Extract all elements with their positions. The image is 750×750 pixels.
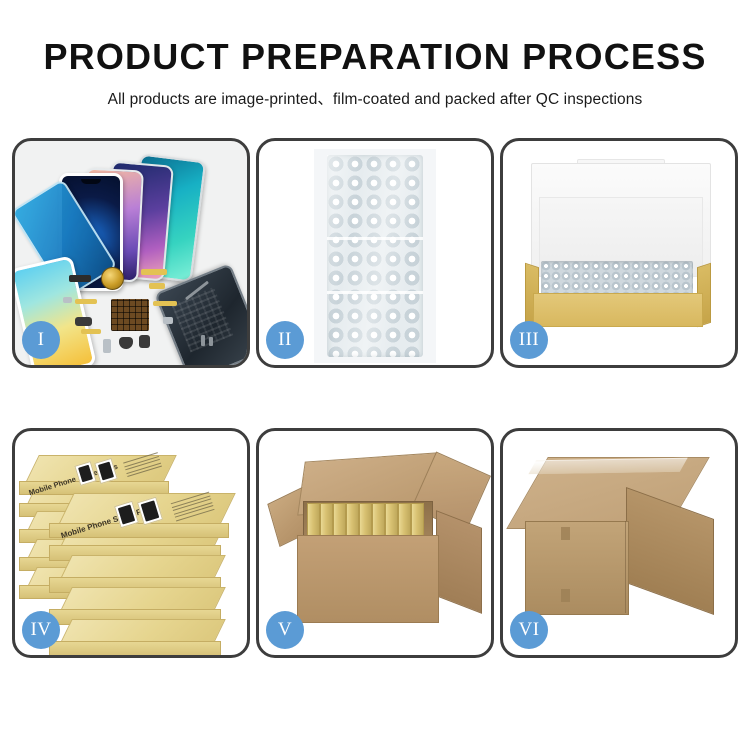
connector-part-3 <box>163 317 173 324</box>
step-panel-1: I <box>12 138 250 368</box>
bubble-wrapped-contents <box>541 261 693 297</box>
step-panel-2: II <box>256 138 494 368</box>
flex-cable-4 <box>75 299 97 304</box>
flex-cable-3 <box>153 301 177 306</box>
phone-notch <box>81 179 101 184</box>
packing-tape <box>528 458 687 475</box>
step-panel-5: V <box>256 428 494 658</box>
box-front-panel <box>533 293 703 327</box>
bubble-wrap-gloss <box>327 155 423 357</box>
process-grid: I II III <box>12 138 738 658</box>
stacked-box-front-3 <box>47 587 227 617</box>
sealed-carton-side <box>626 487 714 615</box>
step-badge-2: II <box>266 321 304 359</box>
step-badge-3: III <box>510 321 548 359</box>
stacked-box-front-2 <box>47 555 227 585</box>
page-title: PRODUCT PREPARATION PROCESS <box>0 0 750 78</box>
labeled-box-front: Mobile Phone Spare Parts <box>47 493 237 529</box>
flex-cable-1 <box>141 269 167 275</box>
screw-part-1 <box>201 335 205 346</box>
battery-part <box>139 335 150 348</box>
step-badge-5: V <box>266 611 304 649</box>
box-side-face <box>49 641 221 655</box>
flex-cable-5 <box>81 329 101 334</box>
connector-part-1 <box>63 297 72 303</box>
step-badge-1: I <box>22 321 60 359</box>
chip-part-1 <box>69 275 91 282</box>
screw-part-2 <box>209 337 213 346</box>
carton-right-wall <box>436 510 482 614</box>
gold-coil-part <box>101 267 124 290</box>
step-panel-6: VI <box>500 428 738 658</box>
step-badge-6: VI <box>510 611 548 649</box>
bubble-wrap-seam-2 <box>327 291 423 294</box>
carton-front-wall <box>297 535 439 623</box>
labeled-box-back: Mobile Phone Spare Parts <box>17 455 177 487</box>
step-panel-3: III <box>500 138 738 368</box>
grid-chip-part <box>111 299 149 331</box>
connector-part-2 <box>103 339 111 353</box>
stacked-box-front-4 <box>47 619 227 649</box>
flex-cable-2 <box>149 283 165 289</box>
speaker-part-2 <box>119 337 133 349</box>
carton-staple-2 <box>561 589 570 602</box>
infographic-page: PRODUCT PREPARATION PROCESS All products… <box>0 0 750 750</box>
bubble-wrap-seam-1 <box>327 237 423 240</box>
page-subtitle: All products are image-printed、film-coat… <box>0 78 750 109</box>
carton-staple-1 <box>561 527 570 540</box>
speaker-part-1 <box>75 317 92 326</box>
sealed-carton-front <box>525 521 629 615</box>
carton-corner-seam <box>625 521 626 613</box>
step-badge-4: IV <box>22 611 60 649</box>
header: PRODUCT PREPARATION PROCESS All products… <box>0 0 750 109</box>
step-panel-4: Mobile Phone Spare Parts Mobile Phone Sp… <box>12 428 250 658</box>
